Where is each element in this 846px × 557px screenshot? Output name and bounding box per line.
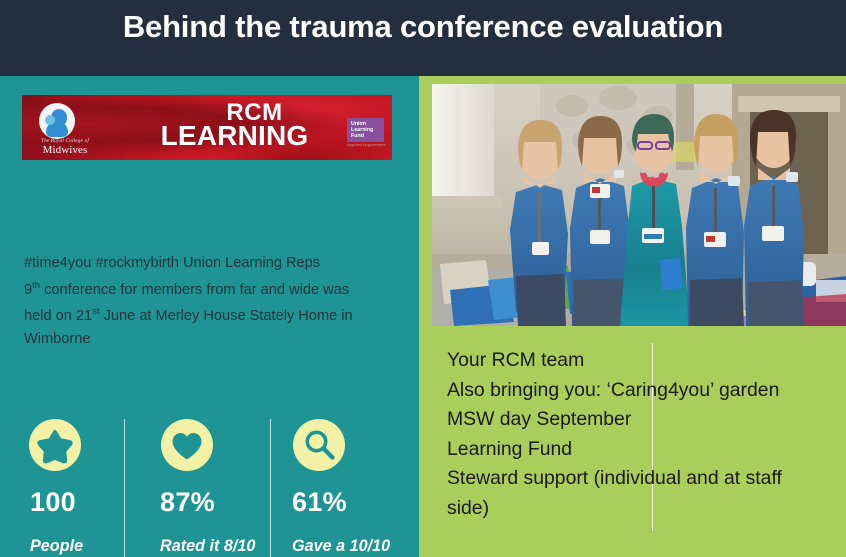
intro-line-1: #time4you #rockmybirth Union Learning Re… [24,255,320,271]
stat-label: People were There [30,535,120,557]
stat-value: 61% [292,487,412,518]
page-title: Behind the trauma conference evaluation [0,9,846,45]
intro-line-3-pre: held on 21 [24,308,92,324]
stat-label: Gave a 10/10 rating [292,535,412,557]
team-photo [432,84,846,326]
rcm-crest-icon [36,103,78,143]
magnifier-icon [293,419,345,471]
slide-root: Behind the trauma conference evaluation … [0,0,846,557]
stat-value: 100 [30,487,120,518]
star-icon [29,419,81,471]
left-teal-panel: The Royal College of Midwives RCM LEARNI… [0,76,419,557]
intro-ordinal-st: st [92,306,99,317]
stat-divider-1 [124,419,125,557]
intro-line-4: Wimborne [24,331,91,347]
stat-rating-8of10: 87% Rated it 8/10 or more [140,419,264,557]
intro-line-3-post: June at Merley House Stately Home in [100,308,353,324]
stat-divider-2 [270,419,271,557]
rcm-learning-logo: The Royal College of Midwives RCM LEARNI… [22,95,392,160]
union-learning-fund-label: Union Learning Fund [351,121,381,139]
union-learning-fund-badge: Union Learning Fund [347,118,384,142]
heart-icon [161,419,213,471]
intro-paragraph: #time4you #rockmybirth Union Learning Re… [24,252,406,350]
intro-line-2-pre: 9 [24,281,32,297]
crest-caption: Midwives [26,144,104,156]
stats-row: 100 People were There 87% Rated it 8/10 … [0,419,419,557]
right-green-panel: Your RCM team Also bringing you: ‘Caring… [419,76,846,557]
slide-header: Behind the trauma conference evaluation [0,0,846,76]
logo-word-learning: LEARNING [132,121,337,151]
stat-attendance: 100 People were There [16,419,120,557]
stat-rating-10of10: 61% Gave a 10/10 rating [282,419,412,557]
stat-value: 87% [160,487,264,518]
intro-line-2-post: conference for members from far and wide… [40,281,349,297]
stat-label: Rated it 8/10 or more [160,535,264,557]
intro-ordinal-th: th [32,280,40,291]
right-panel-body: Your RCM team Also bringing you: ‘Caring… [447,346,823,524]
union-learning-fund-sublabel: supported by government [347,143,387,147]
